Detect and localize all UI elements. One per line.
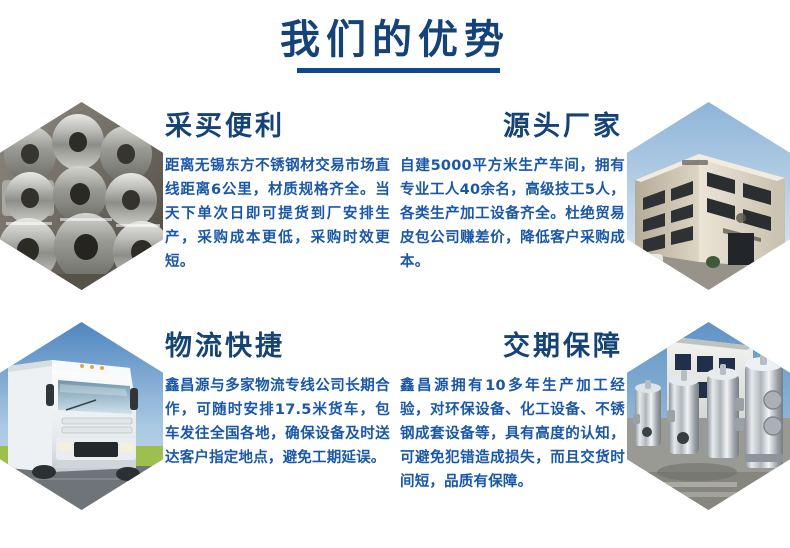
feature-block-manufacturer: 源头厂家 自建5000平方米生产车间，拥有专业工人40余名，高级技工5人，各类生… [395,96,790,316]
feature-text-delivery-guarantee: 交期保障 鑫昌源拥有10多年生产加工经验，对环保设备、化工设备、不锈钢成套设备等… [400,330,625,494]
feature-heading: 源头厂家 [400,110,625,144]
stainless-steel-tanks-photo [627,322,790,510]
feature-body: 鑫昌源与多家物流专线公司长期合作，可随时安排17.5米货车，包车发往全国各地，确… [165,374,390,470]
feature-text-procurement: 采买便利 距离无锡东方不锈钢材交易市场直线距离6公里，材质规格齐全。当天下单次日… [165,110,390,274]
feature-heading: 物流快捷 [165,330,390,364]
feature-block-procurement: 采买便利 距离无锡东方不锈钢材交易市场直线距离6公里，材质规格齐全。当天下单次日… [0,96,395,316]
feature-body: 鑫昌源拥有10多年生产加工经验，对环保设备、化工设备、不锈钢成套设备等，具有高度… [400,374,625,494]
feature-body: 距离无锡东方不锈钢材交易市场直线距离6公里，材质规格齐全。当天下单次日即可提货到… [165,154,390,274]
feature-heading: 交期保障 [400,330,625,364]
feature-text-logistics: 物流快捷 鑫昌源与多家物流专线公司长期合作，可随时安排17.5米货车，包车发往全… [165,330,390,470]
feature-block-logistics: 物流快捷 鑫昌源与多家物流专线公司长期合作，可随时安排17.5米货车，包车发往全… [0,316,395,536]
steel-coils-photo [0,102,163,290]
feature-heading: 采买便利 [165,110,390,144]
delivery-truck-photo [0,322,163,510]
page-title: 我们的优势 [0,16,790,64]
page-title-section: 我们的优势 [0,16,790,64]
feature-body: 自建5000平方米生产车间，拥有专业工人40余名，高级技工5人，各类生产加工设备… [400,154,625,274]
feature-text-manufacturer: 源头厂家 自建5000平方米生产车间，拥有专业工人40余名，高级技工5人，各类生… [400,110,625,274]
advantages-page: 我们的优势 [0,0,790,548]
feature-block-delivery-guarantee: 交期保障 鑫昌源拥有10多年生产加工经验，对环保设备、化工设备、不锈钢成套设备等… [395,316,790,536]
title-underline-bar [297,68,500,73]
factory-building-photo [627,102,790,290]
